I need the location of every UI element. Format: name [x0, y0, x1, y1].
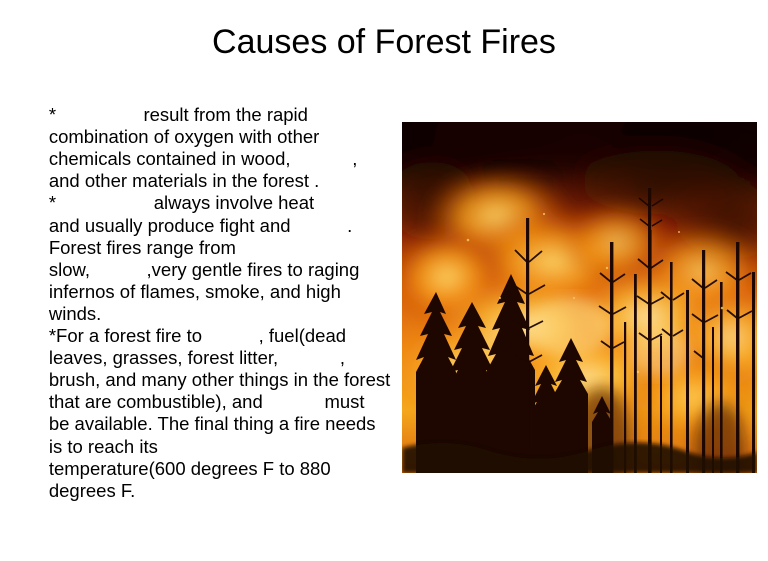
line-text-pre: temperature(600 degrees F to 880 [49, 458, 331, 479]
line-text-post: . [347, 215, 352, 236]
line-text-post: , [340, 347, 345, 368]
line-text-pre: leaves, grasses, forest litter, [49, 347, 278, 368]
line-text-pre: *For a forest fire to [49, 325, 202, 346]
fire-illustration [402, 122, 757, 473]
forest-fire-photograph [402, 122, 757, 473]
line-text-pre: * [49, 192, 56, 213]
line-text-pre: be available. The final thing a fire nee… [49, 413, 376, 434]
blank-gap [202, 325, 259, 347]
blank-gap [263, 391, 325, 413]
line-text-pre: combination of oxygen with other [49, 126, 319, 147]
line-text-pre: is to reach its [49, 436, 158, 457]
line-text-post: always involve heat [154, 192, 314, 213]
line-text-pre: chemicals contained in wood, [49, 148, 291, 169]
line-text-post: , fuel(dead [259, 325, 346, 346]
body-text-block: * result from the rapid combination of o… [18, 82, 386, 480]
line-text-post: must [324, 391, 364, 412]
line-text-pre: slow, [49, 259, 90, 280]
text-line: * result from the rapid [18, 82, 386, 104]
blank-gap [291, 148, 353, 170]
presentation-slide: Causes of Forest Fires * result from the… [0, 0, 768, 561]
line-text-pre: brush, and many other things in the fore… [49, 369, 390, 390]
line-text-pre: winds. [49, 303, 101, 324]
line-text-pre: that are combustible), and [49, 391, 263, 412]
blank-gap [291, 215, 348, 237]
page-title: Causes of Forest Fires [0, 21, 768, 63]
blank-gap [90, 259, 147, 281]
line-text-pre: infernos of flames, smoke, and high [49, 281, 341, 302]
line-text-post: ,very gentle fires to raging [147, 259, 360, 280]
line-text-post: , [352, 148, 357, 169]
line-text-pre: * [49, 104, 56, 125]
line-text-post: result from the rapid [143, 104, 308, 125]
blank-gap [56, 104, 143, 126]
line-text-pre: degrees F. [49, 480, 135, 501]
blank-gap [278, 347, 340, 369]
blank-gap [56, 192, 154, 214]
line-text-pre: Forest fires range from [49, 237, 236, 258]
line-text-pre: and other materials in the forest . [49, 170, 319, 191]
line-text-pre: and usually produce fight and [49, 215, 291, 236]
